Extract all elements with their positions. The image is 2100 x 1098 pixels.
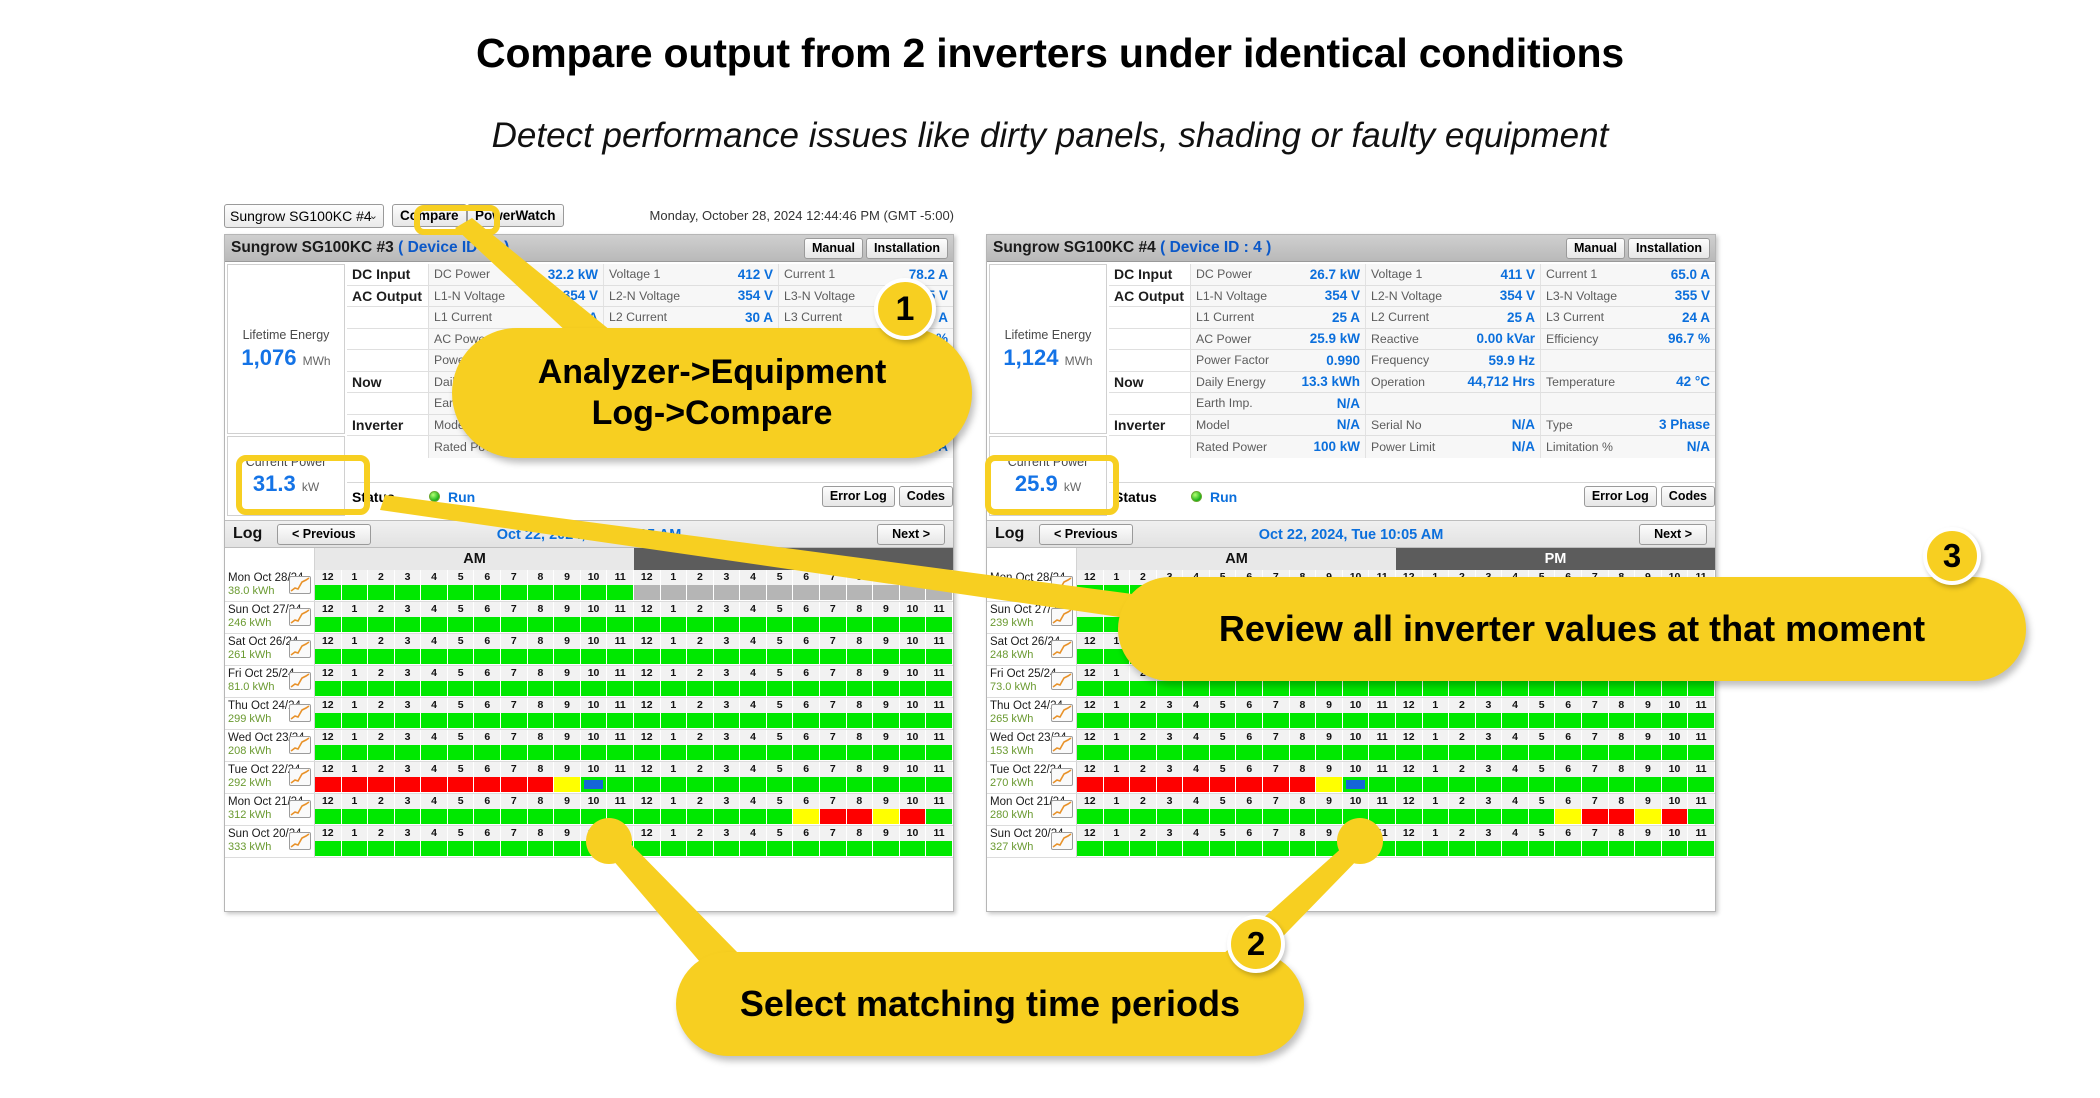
hour-status-cell[interactable] [1476, 745, 1503, 760]
hour-status-cell[interactable] [847, 745, 874, 760]
hour-status-cell[interactable] [395, 681, 422, 696]
hour-status-cell[interactable] [1635, 809, 1662, 824]
hour-status-cell[interactable] [634, 713, 661, 728]
hour-status-cell[interactable] [368, 745, 395, 760]
hour-status-cell[interactable] [421, 841, 448, 856]
hour-status-cell[interactable] [1130, 777, 1157, 792]
hour-status-cell[interactable] [368, 681, 395, 696]
hour-status-cell[interactable] [1635, 681, 1662, 696]
hour-status-cell[interactable] [1290, 809, 1317, 824]
hour-status-cell[interactable] [661, 617, 688, 632]
hour-status-cell[interactable] [873, 713, 900, 728]
log-day-label[interactable]: Thu Oct 24/24265 kWh [987, 698, 1077, 729]
hour-status-cell[interactable] [634, 681, 661, 696]
hour-status-cell[interactable] [1104, 809, 1131, 824]
hour-status-cell[interactable] [767, 841, 794, 856]
hour-status-cell[interactable] [926, 841, 953, 856]
hour-status-cell[interactable] [448, 745, 475, 760]
hour-status-cell[interactable] [873, 745, 900, 760]
day-chart-icon[interactable] [289, 832, 311, 850]
hour-status-cell[interactable] [1263, 681, 1290, 696]
hour-status-cell[interactable] [474, 649, 501, 664]
hour-status-cell[interactable] [1582, 809, 1609, 824]
hour-status-cell[interactable] [1130, 745, 1157, 760]
hour-status-cell[interactable] [793, 777, 820, 792]
hour-status-cell[interactable] [714, 585, 741, 600]
hour-status-cell[interactable] [767, 585, 794, 600]
hour-status-cell[interactable] [1157, 841, 1184, 856]
hour-status-cell[interactable] [448, 809, 475, 824]
hour-status-cell[interactable] [634, 617, 661, 632]
hour-status-cell[interactable] [1157, 713, 1184, 728]
hour-status-cell[interactable] [847, 617, 874, 632]
hour-status-cell[interactable] [1183, 745, 1210, 760]
hour-status-cell[interactable] [607, 649, 634, 664]
hour-status-cell[interactable] [342, 841, 369, 856]
hour-status-cell[interactable] [847, 841, 874, 856]
hour-status-cell[interactable] [1263, 777, 1290, 792]
hour-status-cell[interactable] [581, 681, 608, 696]
hour-status-cell[interactable] [767, 649, 794, 664]
hour-status-cell[interactable] [1263, 745, 1290, 760]
hour-status-cell[interactable] [873, 585, 900, 600]
hour-status-cell[interactable] [793, 745, 820, 760]
hour-status-cell[interactable] [1688, 745, 1715, 760]
hour-status-cell[interactable] [1236, 713, 1263, 728]
hour-status-cell[interactable] [687, 617, 714, 632]
hour-status-cell[interactable] [1582, 777, 1609, 792]
hour-status-cell[interactable] [315, 713, 342, 728]
hour-status-cell[interactable] [554, 649, 581, 664]
hour-status-cell[interactable] [1688, 777, 1715, 792]
hour-status-cell[interactable] [1662, 809, 1689, 824]
hour-status-cell[interactable] [1316, 809, 1343, 824]
log-day-label[interactable]: Fri Oct 25/2473.0 kWh [987, 666, 1077, 697]
hour-status-cell[interactable] [1635, 745, 1662, 760]
hour-status-cell[interactable] [1236, 681, 1263, 696]
hour-status-cell[interactable] [740, 777, 767, 792]
day-chart-icon[interactable] [1051, 800, 1073, 818]
hour-status-cell[interactable] [873, 809, 900, 824]
hour-status-cell[interactable] [315, 585, 342, 600]
hour-status-cell[interactable] [1263, 809, 1290, 824]
hour-status-cell[interactable] [1423, 841, 1450, 856]
hour-status-cell[interactable] [1236, 777, 1263, 792]
hour-status-cell[interactable] [873, 617, 900, 632]
next-button[interactable]: Next > [877, 524, 945, 545]
hour-status-cell[interactable] [1476, 713, 1503, 728]
hour-status-cell[interactable] [714, 841, 741, 856]
hour-status-cell[interactable] [448, 713, 475, 728]
day-chart-icon[interactable] [1051, 608, 1073, 626]
hour-status-cell[interactable] [1077, 585, 1104, 600]
hour-status-cell[interactable] [474, 585, 501, 600]
hour-status-cell[interactable] [1077, 745, 1104, 760]
hour-status-cell[interactable] [873, 777, 900, 792]
log-day-label[interactable]: Sat Oct 26/24261 kWh [225, 634, 315, 665]
log-day-label[interactable]: Tue Oct 22/24292 kWh [225, 762, 315, 793]
hour-status-cell[interactable] [368, 809, 395, 824]
hour-status-cell[interactable] [740, 809, 767, 824]
hour-status-cell[interactable] [1396, 713, 1423, 728]
hour-status-cell[interactable] [474, 777, 501, 792]
hour-status-cell[interactable] [421, 713, 448, 728]
hour-status-cell[interactable] [1529, 713, 1556, 728]
hour-status-cell[interactable] [1316, 777, 1343, 792]
hour-status-cell[interactable] [926, 681, 953, 696]
hour-status-cell[interactable] [315, 777, 342, 792]
day-chart-icon[interactable] [1051, 832, 1073, 850]
hour-status-cell[interactable] [448, 649, 475, 664]
hour-status-cell[interactable] [501, 713, 528, 728]
hour-status-cell[interactable] [661, 777, 688, 792]
next-button[interactable]: Next > [1639, 524, 1707, 545]
hour-status-cell[interactable] [1476, 777, 1503, 792]
hour-status-cell[interactable] [1077, 617, 1104, 632]
hour-status-cell[interactable] [873, 681, 900, 696]
hour-status-cell[interactable] [421, 745, 448, 760]
hour-status-cell[interactable] [873, 649, 900, 664]
hour-status-cell[interactable] [634, 585, 661, 600]
hour-status-cell[interactable] [1476, 809, 1503, 824]
hour-status-cell[interactable] [1609, 745, 1636, 760]
hour-status-cell[interactable] [1183, 777, 1210, 792]
selected-hour-marker-right[interactable] [1337, 818, 1383, 864]
hour-status-cell[interactable] [315, 745, 342, 760]
hour-status-cell[interactable] [1502, 681, 1529, 696]
hour-status-cell[interactable] [1662, 841, 1689, 856]
hour-status-cell[interactable] [767, 617, 794, 632]
hour-status-cell[interactable] [395, 713, 422, 728]
hour-status-cell[interactable] [1423, 681, 1450, 696]
hour-status-cell[interactable] [1157, 809, 1184, 824]
hour-status-cell[interactable] [1104, 745, 1131, 760]
hour-status-cell[interactable] [926, 777, 953, 792]
hour-status-cell[interactable] [820, 809, 847, 824]
log-day-label[interactable]: Wed Oct 23/24153 kWh [987, 730, 1077, 761]
hour-status-cell[interactable] [847, 681, 874, 696]
hour-status-cell[interactable] [634, 649, 661, 664]
hour-status-cell[interactable] [607, 745, 634, 760]
day-chart-icon[interactable] [289, 672, 311, 690]
hour-status-cell[interactable] [661, 585, 688, 600]
hour-status-cell[interactable] [342, 585, 369, 600]
hour-status-cell[interactable] [847, 713, 874, 728]
hour-status-cell[interactable] [740, 841, 767, 856]
day-chart-icon[interactable] [289, 704, 311, 722]
hour-status-cell[interactable] [847, 809, 874, 824]
log-day-label[interactable]: Sun Oct 20/24327 kWh [987, 826, 1077, 857]
hour-status-cell[interactable] [395, 777, 422, 792]
hour-status-cell[interactable] [1130, 841, 1157, 856]
log-day-label[interactable]: Mon Oct 28/2438.0 kWh [225, 570, 315, 601]
hour-status-cell[interactable] [1635, 841, 1662, 856]
hour-status-cell[interactable] [395, 809, 422, 824]
hour-status-cell[interactable] [554, 745, 581, 760]
hour-status-cell[interactable] [767, 713, 794, 728]
hour-status-cell[interactable] [820, 777, 847, 792]
hour-status-cell[interactable] [1529, 745, 1556, 760]
hour-status-cell[interactable] [1688, 713, 1715, 728]
hour-status-cell[interactable] [1662, 713, 1689, 728]
hour-status-cell[interactable] [687, 713, 714, 728]
hour-status-cell[interactable] [1423, 777, 1450, 792]
hour-status-cell[interactable] [1077, 777, 1104, 792]
hour-status-cell[interactable] [1343, 745, 1370, 760]
hour-status-cell[interactable] [1449, 745, 1476, 760]
hour-status-cell[interactable] [368, 617, 395, 632]
hour-status-cell[interactable] [1290, 841, 1317, 856]
hour-status-cell[interactable] [421, 649, 448, 664]
hour-status-cell[interactable] [1582, 681, 1609, 696]
hour-status-cell[interactable] [474, 617, 501, 632]
hour-status-cell[interactable] [820, 713, 847, 728]
hour-status-cell[interactable] [767, 777, 794, 792]
hour-status-cell[interactable] [714, 649, 741, 664]
hour-status-cell[interactable] [1502, 745, 1529, 760]
hour-status-cell[interactable] [607, 617, 634, 632]
hour-status-cell[interactable] [661, 681, 688, 696]
hour-status-cell[interactable] [900, 617, 927, 632]
hour-status-cell[interactable] [820, 617, 847, 632]
hour-status-cell[interactable] [421, 617, 448, 632]
hour-status-cell[interactable] [474, 681, 501, 696]
hour-status-cell[interactable] [1396, 841, 1423, 856]
log-day-label[interactable]: Mon Oct 21/24280 kWh [987, 794, 1077, 825]
hour-status-cell[interactable] [847, 777, 874, 792]
hour-status-cell[interactable] [1077, 841, 1104, 856]
hour-status-cell[interactable] [528, 681, 555, 696]
hour-status-cell[interactable] [554, 841, 581, 856]
day-chart-icon[interactable] [289, 800, 311, 818]
hour-status-cell[interactable] [1609, 841, 1636, 856]
day-chart-icon[interactable] [289, 640, 311, 658]
hour-status-cell[interactable] [767, 745, 794, 760]
error-log-button[interactable]: Error Log [822, 486, 895, 507]
hour-status-cell[interactable] [1183, 681, 1210, 696]
hour-status-cell[interactable] [528, 649, 555, 664]
log-day-label[interactable]: Sun Oct 27/24239 kWh [987, 602, 1077, 633]
hour-status-cell[interactable] [661, 713, 688, 728]
hour-status-cell[interactable] [793, 713, 820, 728]
hour-status-cell[interactable] [1316, 681, 1343, 696]
hour-status-cell[interactable] [1502, 713, 1529, 728]
hour-status-cell[interactable] [847, 649, 874, 664]
hour-status-cell[interactable] [793, 681, 820, 696]
hour-status-cell[interactable] [687, 585, 714, 600]
hour-status-cell[interactable] [820, 841, 847, 856]
day-chart-icon[interactable] [289, 736, 311, 754]
hour-status-cell[interactable] [315, 841, 342, 856]
hour-status-cell[interactable] [474, 713, 501, 728]
hour-status-cell[interactable] [687, 649, 714, 664]
log-day-label[interactable]: Tue Oct 22/24270 kWh [987, 762, 1077, 793]
hour-status-cell[interactable] [900, 841, 927, 856]
hour-status-cell[interactable] [368, 841, 395, 856]
hour-status-cell[interactable] [315, 617, 342, 632]
hour-status-cell[interactable] [1369, 777, 1396, 792]
hour-status-cell[interactable] [1688, 681, 1715, 696]
codes-button[interactable]: Codes [899, 486, 953, 507]
hour-status-cell[interactable] [1369, 713, 1396, 728]
hour-status-cell[interactable] [1582, 713, 1609, 728]
hour-status-cell[interactable] [820, 649, 847, 664]
hour-status-cell[interactable] [1157, 681, 1184, 696]
hour-status-cell[interactable] [687, 745, 714, 760]
hour-status-cell[interactable] [740, 585, 767, 600]
hour-status-cell[interactable] [687, 809, 714, 824]
selected-hour-cell[interactable] [1343, 777, 1370, 792]
hour-status-cell[interactable] [1210, 681, 1237, 696]
log-day-label[interactable]: Thu Oct 24/24299 kWh [225, 698, 315, 729]
hour-status-cell[interactable] [714, 809, 741, 824]
hour-status-cell[interactable] [1688, 841, 1715, 856]
hour-status-cell[interactable] [634, 841, 661, 856]
hour-status-cell[interactable] [1476, 681, 1503, 696]
hour-status-cell[interactable] [1130, 713, 1157, 728]
log-day-label[interactable]: Fri Oct 25/2481.0 kWh [225, 666, 315, 697]
hour-status-cell[interactable] [1077, 681, 1104, 696]
hour-status-cell[interactable] [714, 713, 741, 728]
hour-status-cell[interactable] [474, 809, 501, 824]
hour-status-cell[interactable] [1423, 809, 1450, 824]
hour-status-cell[interactable] [1290, 777, 1317, 792]
hour-status-cell[interactable] [315, 649, 342, 664]
hour-status-cell[interactable] [661, 809, 688, 824]
hour-status-cell[interactable] [1529, 681, 1556, 696]
hour-status-cell[interactable] [1609, 777, 1636, 792]
hour-status-cell[interactable] [528, 713, 555, 728]
hour-status-cell[interactable] [528, 841, 555, 856]
hour-status-cell[interactable] [926, 745, 953, 760]
hour-status-cell[interactable] [926, 649, 953, 664]
hour-status-cell[interactable] [1263, 841, 1290, 856]
hour-status-cell[interactable] [607, 777, 634, 792]
codes-button[interactable]: Codes [1661, 486, 1715, 507]
hour-status-cell[interactable] [501, 585, 528, 600]
hour-status-cell[interactable] [342, 617, 369, 632]
hour-status-cell[interactable] [1609, 809, 1636, 824]
hour-status-cell[interactable] [554, 777, 581, 792]
hour-status-cell[interactable] [421, 585, 448, 600]
hour-status-cell[interactable] [873, 841, 900, 856]
hour-status-cell[interactable] [1077, 809, 1104, 824]
hour-status-cell[interactable] [528, 585, 555, 600]
hour-status-cell[interactable] [368, 777, 395, 792]
hour-status-cell[interactable] [900, 809, 927, 824]
hour-status-cell[interactable] [395, 745, 422, 760]
hour-status-cell[interactable] [554, 585, 581, 600]
day-chart-icon[interactable] [1051, 576, 1073, 594]
hour-status-cell[interactable] [661, 649, 688, 664]
hour-status-cell[interactable] [714, 617, 741, 632]
hour-status-cell[interactable] [926, 713, 953, 728]
hour-status-cell[interactable] [634, 809, 661, 824]
hour-status-cell[interactable] [1449, 809, 1476, 824]
day-chart-icon[interactable] [1051, 640, 1073, 658]
hour-status-cell[interactable] [342, 745, 369, 760]
log-day-label[interactable]: Mon Oct 28/2423.0 kWh [987, 570, 1077, 601]
hour-status-cell[interactable] [528, 745, 555, 760]
hour-status-cell[interactable] [1529, 777, 1556, 792]
hour-status-cell[interactable] [1077, 649, 1104, 664]
hour-status-cell[interactable] [1104, 841, 1131, 856]
hour-status-cell[interactable] [501, 745, 528, 760]
hour-status-cell[interactable] [1343, 713, 1370, 728]
hour-status-cell[interactable] [1130, 809, 1157, 824]
hour-status-cell[interactable] [1476, 841, 1503, 856]
hour-status-cell[interactable] [1104, 681, 1131, 696]
hour-status-cell[interactable] [342, 713, 369, 728]
day-chart-icon[interactable] [1051, 736, 1073, 754]
hour-status-cell[interactable] [1449, 777, 1476, 792]
hour-status-cell[interactable] [926, 585, 953, 600]
hour-status-cell[interactable] [1582, 745, 1609, 760]
hour-status-cell[interactable] [1529, 841, 1556, 856]
hour-status-cell[interactable] [342, 809, 369, 824]
compare-button[interactable]: Compare [392, 204, 467, 227]
hour-status-cell[interactable] [1290, 745, 1317, 760]
hour-status-cell[interactable] [1423, 745, 1450, 760]
hour-status-cell[interactable] [1502, 809, 1529, 824]
hour-status-cell[interactable] [342, 681, 369, 696]
hour-status-cell[interactable] [607, 681, 634, 696]
hour-status-cell[interactable] [607, 585, 634, 600]
day-chart-icon[interactable] [1051, 768, 1073, 786]
hour-status-cell[interactable] [1396, 777, 1423, 792]
hour-status-cell[interactable] [740, 617, 767, 632]
hour-status-cell[interactable] [767, 809, 794, 824]
hour-status-cell[interactable] [1263, 713, 1290, 728]
hour-status-cell[interactable] [368, 649, 395, 664]
day-chart-icon[interactable] [1051, 672, 1073, 690]
hour-status-cell[interactable] [793, 649, 820, 664]
hour-status-cell[interactable] [448, 841, 475, 856]
hour-status-cell[interactable] [793, 809, 820, 824]
hour-status-cell[interactable] [421, 809, 448, 824]
hour-status-cell[interactable] [793, 841, 820, 856]
hour-status-cell[interactable] [1449, 681, 1476, 696]
hour-status-cell[interactable] [1104, 777, 1131, 792]
day-chart-icon[interactable] [289, 576, 311, 594]
hour-status-cell[interactable] [315, 681, 342, 696]
day-chart-icon[interactable] [289, 608, 311, 626]
manual-button[interactable]: Manual [1566, 238, 1625, 259]
hour-status-cell[interactable] [1662, 777, 1689, 792]
hour-status-cell[interactable] [1290, 713, 1317, 728]
hour-status-cell[interactable] [820, 681, 847, 696]
hour-status-cell[interactable] [1635, 777, 1662, 792]
hour-status-cell[interactable] [315, 809, 342, 824]
hour-status-cell[interactable] [687, 777, 714, 792]
hour-status-cell[interactable] [448, 617, 475, 632]
hour-status-cell[interactable] [1183, 713, 1210, 728]
hour-status-cell[interactable] [900, 681, 927, 696]
manual-button[interactable]: Manual [804, 238, 863, 259]
hour-status-cell[interactable] [1555, 841, 1582, 856]
hour-status-cell[interactable] [448, 681, 475, 696]
hour-status-cell[interactable] [1662, 745, 1689, 760]
hour-status-cell[interactable] [1210, 809, 1237, 824]
hour-status-cell[interactable] [342, 649, 369, 664]
hour-status-cell[interactable] [1183, 809, 1210, 824]
hour-status-cell[interactable] [395, 649, 422, 664]
hour-status-cell[interactable] [926, 617, 953, 632]
hour-status-cell[interactable] [767, 681, 794, 696]
hour-status-cell[interactable] [1555, 713, 1582, 728]
hour-status-cell[interactable] [581, 585, 608, 600]
hour-status-cell[interactable] [1104, 585, 1131, 600]
